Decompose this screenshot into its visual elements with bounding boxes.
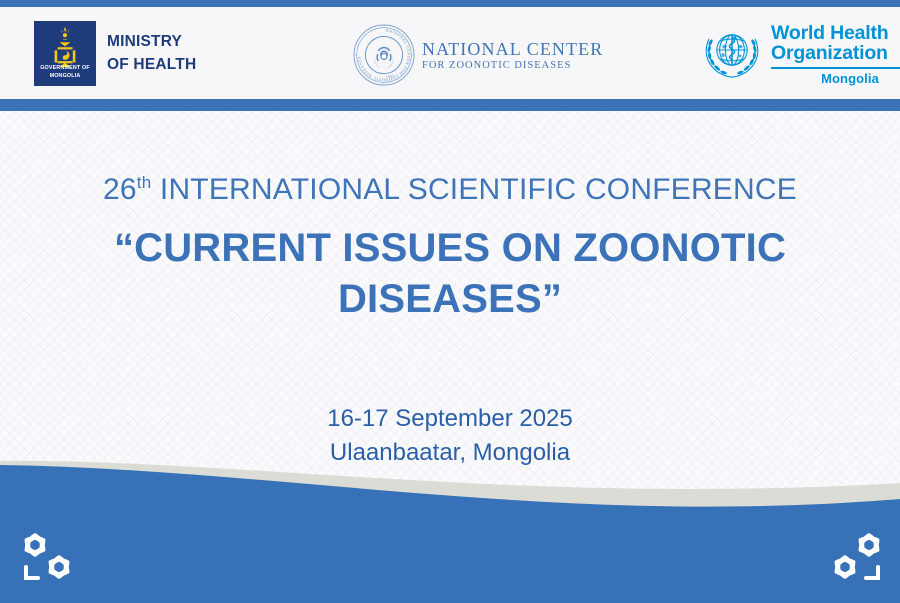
ministry-of-health-name: MINISTRY OF HEALTH	[107, 31, 196, 76]
ministry-name-line1: MINISTRY	[107, 31, 196, 53]
event-location: Ulaanbaatar, Mongolia	[0, 436, 900, 470]
conference-ordinal-suffix: th	[137, 173, 152, 192]
event-date: 16-17 September 2025	[0, 402, 900, 436]
emblem-caption-line1: GOVERNMENT OF	[34, 66, 96, 71]
who-name-line1: World Health	[771, 23, 900, 43]
conference-line-text: INTERNATIONAL SCIENTIFIC CONFERENCE	[151, 173, 797, 206]
logo-national-center-zoonotic-diseases: NATIONAL CENTER FOR ZOONOTIC DISEASES 19…	[352, 23, 603, 87]
conference-ordinal-number: 26	[103, 173, 137, 206]
emblem-caption-line2: MONGOLIA	[34, 74, 96, 79]
who-name-line2: Organization	[771, 43, 900, 63]
who-divider-rule	[771, 67, 900, 69]
top-accent-rule	[0, 0, 900, 7]
ncz-circular-seal-biohazard-icon: NATIONAL CENTER FOR ZOONOTIC DISEASES 19…	[352, 23, 416, 87]
mongolian-triquetra-knot-corner-right-icon	[818, 523, 888, 593]
header-divider-rule	[0, 99, 900, 111]
ministry-name-line2: OF HEALTH	[107, 54, 196, 76]
ncz-name-line2: FOR ZOONOTIC DISEASES	[422, 60, 603, 72]
who-name-block: World Health Organization Mongolia	[771, 23, 900, 86]
ncz-name-line1: NATIONAL CENTER	[422, 39, 603, 59]
slide-main-content: 26th INTERNATIONAL SCIENTIFIC CONFERENCE…	[0, 111, 900, 471]
mongolian-triquetra-knot-corner-left-icon	[16, 523, 86, 593]
mongolia-state-emblem-soyombo-icon: GOVERNMENT OF MONGOLIA	[34, 21, 96, 86]
bottom-wave-decoration	[0, 453, 900, 603]
logo-ministry-of-health: GOVERNMENT OF MONGOLIA MINISTRY OF HEALT…	[34, 21, 196, 86]
logo-row: GOVERNMENT OF MONGOLIA MINISTRY OF HEALT…	[0, 7, 900, 99]
ncz-name: NATIONAL CENTER FOR ZOONOTIC DISEASES	[422, 39, 603, 72]
who-laurel-globe-asclepius-emblem-icon	[700, 25, 764, 81]
page-title: “CURRENT ISSUES ON ZOONOTIC DISEASES”	[0, 223, 900, 325]
conference-title-slide: GOVERNMENT OF MONGOLIA MINISTRY OF HEALT…	[0, 0, 900, 603]
who-country-label: Mongolia	[771, 71, 900, 86]
logo-world-health-organization: World Health Organization Mongolia	[700, 23, 900, 86]
soyombo-glyph-icon	[48, 25, 82, 67]
event-details: 16-17 September 2025 Ulaanbaatar, Mongol…	[0, 402, 900, 470]
conference-ordinal-line: 26th INTERNATIONAL SCIENTIFIC CONFERENCE	[0, 173, 900, 207]
